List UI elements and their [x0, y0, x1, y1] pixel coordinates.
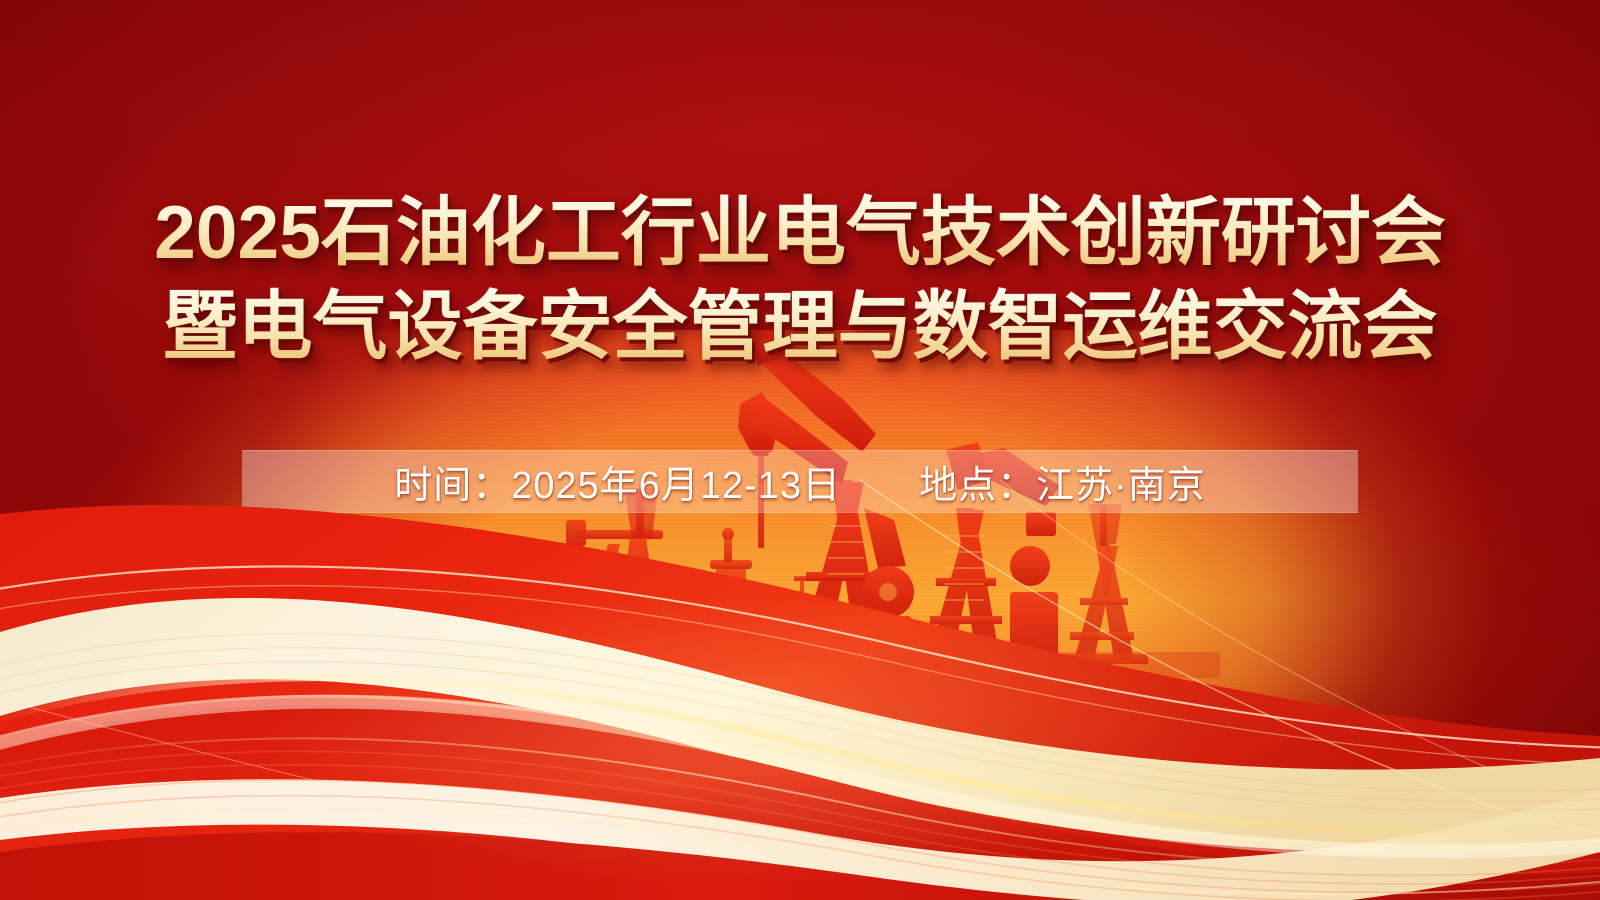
title-line-2: 暨电气设备安全管理与数智运维交流会	[0, 282, 1600, 370]
title-line-1: 2025石油化工行业电气技术创新研讨会	[0, 188, 1600, 276]
conference-banner: 2025石油化工行业电气技术创新研讨会 暨电气设备安全管理与数智运维交流会 时间…	[0, 0, 1600, 900]
ribbon-waves	[0, 480, 1600, 900]
page-title: 2025石油化工行业电气技术创新研讨会 暨电气设备安全管理与数智运维交流会	[0, 188, 1600, 370]
